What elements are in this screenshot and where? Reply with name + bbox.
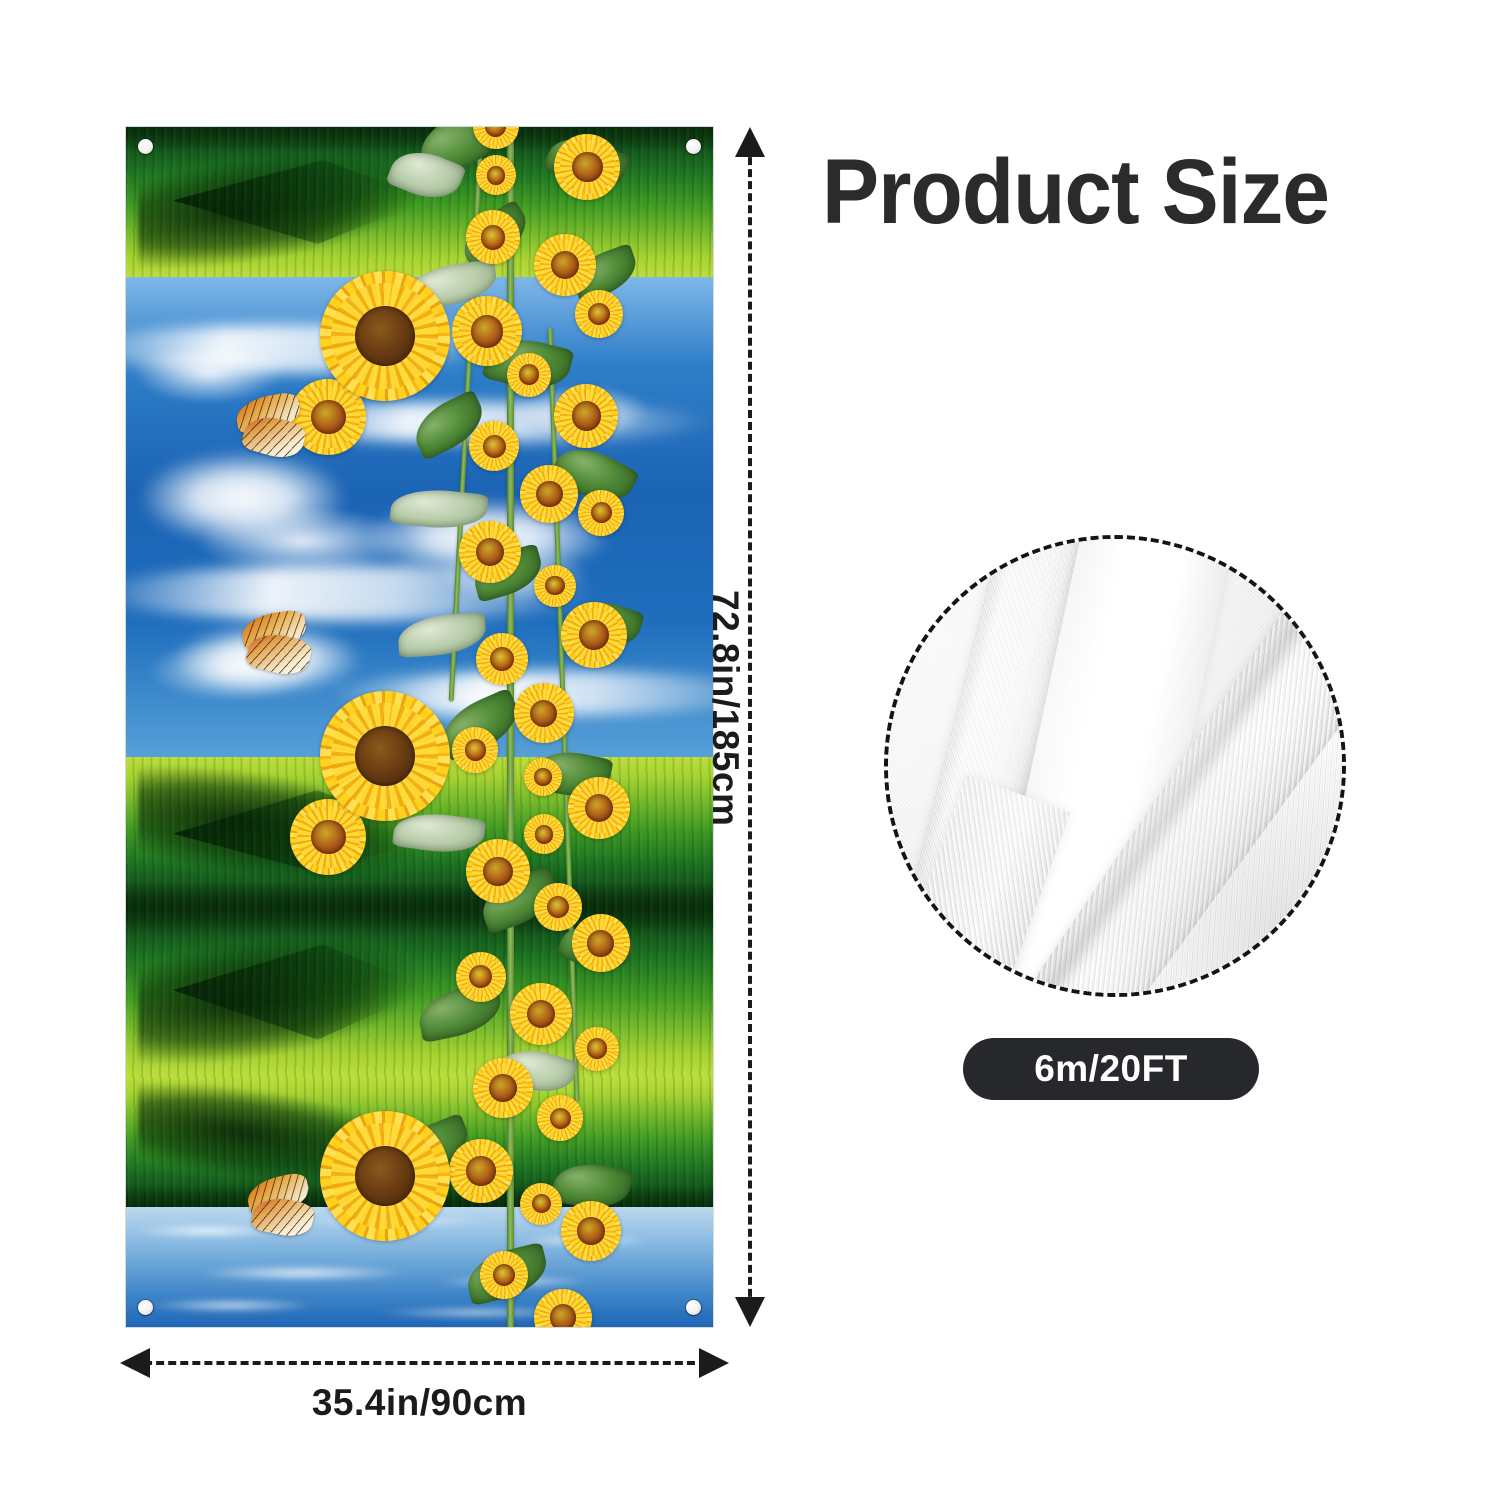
scene-band-grass-mid-b <box>126 907 713 1077</box>
butterfly-upper <box>232 396 312 458</box>
butterfly-lower <box>243 1177 323 1239</box>
sunflower-hero-mid <box>320 691 450 821</box>
butterfly-middle <box>238 613 318 675</box>
height-arrow-top <box>735 127 765 157</box>
width-arrow-left <box>120 1348 150 1378</box>
page-title: Product Size <box>822 146 1329 238</box>
height-arrow-bottom <box>735 1297 765 1327</box>
scene-band-grass-top <box>126 127 713 277</box>
fabric-closeup-image <box>884 535 1346 997</box>
product-size-infographic: 72.8in/185cm 35.4in/90cm Product Size <box>0 0 1500 1500</box>
width-dimension-label: 35.4in/90cm <box>126 1382 713 1424</box>
sunflower-hero-top <box>320 271 450 401</box>
grommet-top-left <box>138 139 153 154</box>
fabric-detail-circle <box>884 535 1346 997</box>
grommet-bottom-left <box>138 1300 153 1315</box>
length-badge: 6m/20FT <box>963 1038 1259 1100</box>
product-banner <box>126 127 713 1327</box>
banner-image <box>126 127 713 1327</box>
height-dimension-line <box>748 133 752 1321</box>
width-dimension-line <box>132 1361 707 1365</box>
height-dimension-label: 72.8in/185cm <box>704 590 746 826</box>
width-arrow-right <box>699 1348 729 1378</box>
grommet-bottom-right <box>686 1300 701 1315</box>
length-badge-label: 6m/20FT <box>1034 1048 1188 1090</box>
grommet-top-right <box>686 139 701 154</box>
sunflower-hero-bottom <box>320 1111 450 1241</box>
